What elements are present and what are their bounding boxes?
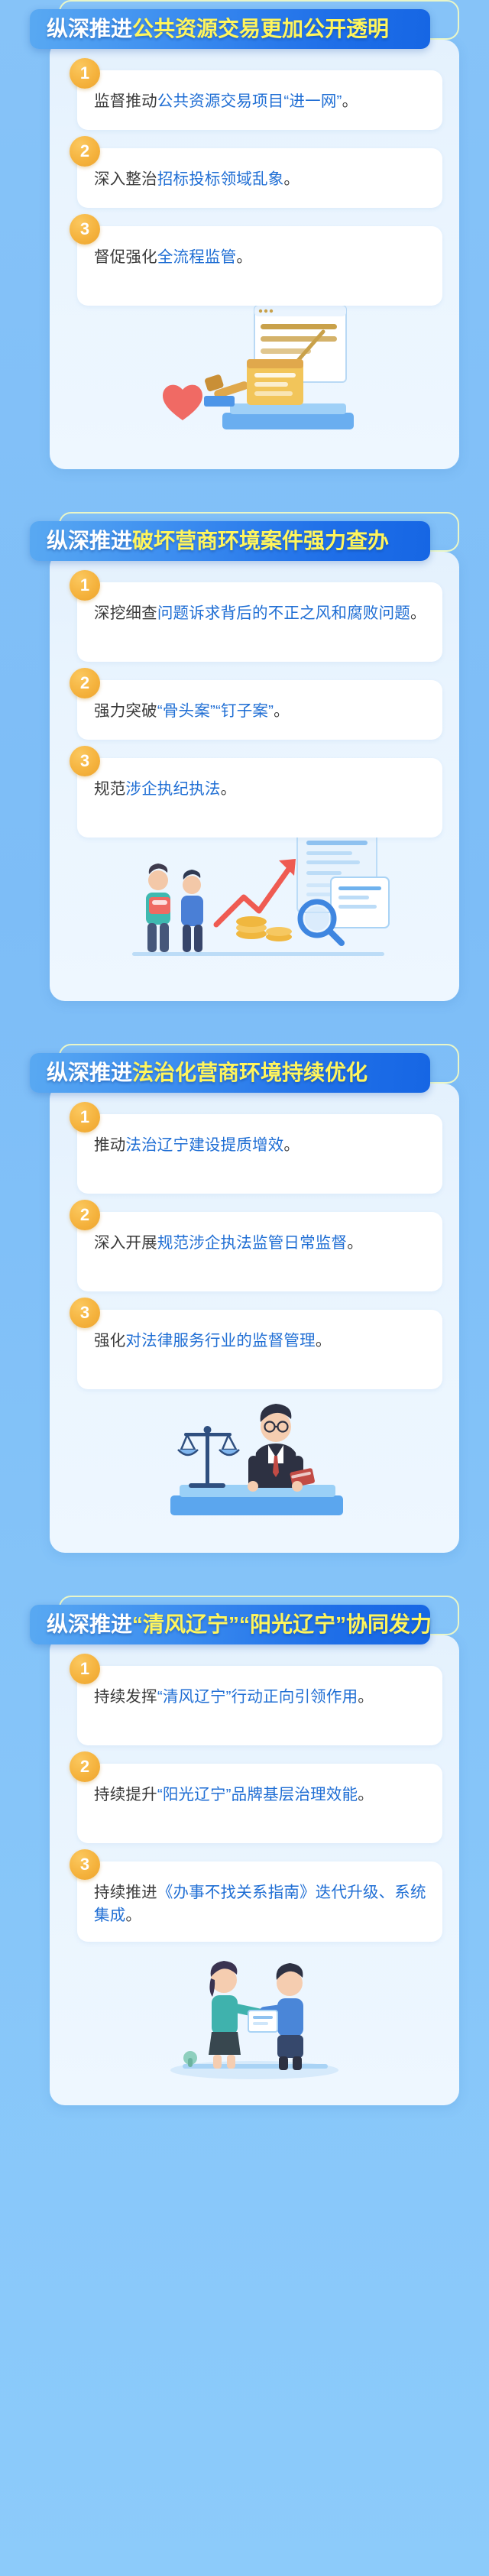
item-number-badge: 3 [70,746,100,776]
section-1: 纵深推进公共资源交易更加公开透明 1 监督推动公共资源交易项目“进一网”。 2 … [30,0,459,469]
list-item: 1 推动法治辽宁建设提质增效。 [66,1114,442,1194]
section-4-header: 纵深推进“清风辽宁”“阳光辽宁”协同发力 [30,1596,459,1644]
item-text-tail: 。 [347,1234,363,1252]
section-2-card: 1 深挖细查问题诉求背后的不正之风和腐败问题。 2 强力突破“骨头案”“钉子案”… [50,552,459,1001]
item-text: 督促强化全流程监管。 [94,246,429,269]
item-text: 强力突破“骨头案”“钉子案”。 [94,700,429,723]
illustration-svg [140,1936,369,2088]
title-highlight: 破坏营商环境案件强力查办 [132,529,389,552]
item-text-plain: 监督推动 [94,92,157,110]
judge-scales-illustration [66,1408,442,1536]
item-text-highlight: 法治辽宁建设提质增效 [125,1136,283,1154]
item-text: 深入整治招标投标领域乱象。 [94,168,429,191]
infographic-page: 纵深推进公共资源交易更加公开透明 1 监督推动公共资源交易项目“进一网”。 2 … [0,0,489,2171]
item-number-badge: 2 [70,136,100,167]
item-text: 深挖细查问题诉求背后的不正之风和腐败问题。 [94,602,429,625]
item-text-tail: 。 [342,92,358,110]
illustration-inner [66,1936,442,2088]
section-2-title: 纵深推进破坏营商环境案件强力查办 [47,530,389,552]
section-1-card: 1 监督推动公共资源交易项目“进一网”。 2 深入整治招标投标领域乱象。 3 督… [50,40,459,469]
item-text-tail: 。 [125,1907,141,1924]
list-item: 1 持续发挥“清风辽宁”行动正向引领作用。 [66,1666,442,1745]
item-content-box: 规范涉企执纪执法。 [77,758,442,838]
illustration-inner [66,300,442,452]
list-item: 2 深入开展规范涉企执法监管日常监督。 [66,1212,442,1291]
item-content-box: 推动法治辽宁建设提质增效。 [77,1114,442,1194]
list-item: 1 深挖细查问题诉求背后的不正之风和腐败问题。 [66,582,442,662]
item-text: 持续发挥“清风辽宁”行动正向引领作用。 [94,1686,429,1709]
illustration-svg [140,300,369,452]
item-text-tail: 。 [283,170,300,188]
item-text-tail: 。 [274,702,290,720]
item-text-tail: 。 [221,780,237,798]
item-text-highlight: “阳光辽宁”品牌基层治理效能 [157,1786,358,1803]
item-text: 监督推动公共资源交易项目“进一网”。 [94,90,429,113]
title-highlight: “清风辽宁”“阳光辽宁”协同发力 [132,1612,432,1636]
section-3-title: 纵深推进法治化营商环境持续优化 [47,1062,368,1084]
item-text-tail: 。 [236,248,252,266]
section-4-title: 纵深推进“清风辽宁”“阳光辽宁”协同发力 [47,1614,432,1635]
item-text-highlight: 对法律服务行业的监督管理 [125,1332,315,1350]
item-number-badge: 2 [70,1200,100,1230]
item-text-highlight: “清风辽宁”行动正向引领作用 [157,1688,358,1706]
item-text-highlight: 全流程监管 [157,248,237,266]
item-text-highlight: 规范涉企执法监管日常监督 [157,1234,347,1252]
illustration-inner [66,1379,442,1536]
header-bar: 纵深推进公共资源交易更加公开透明 [30,9,430,49]
illustration-svg [140,1379,369,1536]
item-content-box: 强力突破“骨头案”“钉子案”。 [77,680,442,740]
item-text-plain: 强化 [94,1332,125,1350]
item-number-badge: 3 [70,1849,100,1880]
item-text-plain: 规范 [94,780,125,798]
item-text-plain: 深入整治 [94,170,157,188]
item-text-plain: 推动 [94,1136,125,1154]
item-text-plain: 强力突破 [94,702,157,720]
document-review-illustration [66,324,442,452]
item-text: 持续推进《办事不找关系指南》迭代升级、系统集成。 [94,1881,429,1928]
item-number-badge: 1 [70,1102,100,1132]
illustration-svg [102,824,407,984]
item-number-badge: 1 [70,570,100,601]
item-text-highlight: 问题诉求背后的不正之风和腐败问题 [157,604,410,622]
item-text-plain: 深入开展 [94,1234,157,1252]
growth-chart-investigation-illustration [66,856,442,984]
item-content-box: 深挖细查问题诉求背后的不正之风和腐败问题。 [77,582,442,662]
item-content-box: 深入整治招标投标领域乱象。 [77,148,442,208]
item-text-tail: 。 [358,1786,374,1803]
item-text-plain: 督促强化 [94,248,157,266]
item-content-box: 持续提升“阳光辽宁”品牌基层治理效能。 [77,1764,442,1843]
list-item: 2 强力突破“骨头案”“钉子案”。 [66,680,442,740]
header-bar: 纵深推进“清风辽宁”“阳光辽宁”协同发力 [30,1605,430,1644]
list-item: 2 深入整治招标投标领域乱象。 [66,148,442,208]
item-content-box: 监督推动公共资源交易项目“进一网”。 [77,70,442,130]
item-content-box: 持续发挥“清风辽宁”行动正向引领作用。 [77,1666,442,1745]
item-number-badge: 3 [70,1298,100,1328]
list-item: 3 督促强化全流程监管。 [66,226,442,306]
list-item: 3 规范涉企执纪执法。 [66,758,442,838]
item-number-badge: 3 [70,214,100,245]
item-text-tail: 。 [358,1688,374,1706]
section-1-title: 纵深推进公共资源交易更加公开透明 [47,18,389,40]
section-3: 纵深推进法治化营商环境持续优化 1 推动法治辽宁建设提质增效。 2 深入开展规范… [30,1044,459,1553]
section-1-header: 纵深推进公共资源交易更加公开透明 [30,0,459,49]
item-text-plain: 持续发挥 [94,1688,157,1706]
item-text-tail: 。 [410,604,426,622]
illustration-inner [66,824,442,984]
item-text-highlight: 公共资源交易项目“进一网” [157,92,342,110]
item-text-tail: 。 [316,1332,332,1350]
item-text-highlight: “骨头案”“钉子案” [157,702,274,720]
item-text: 推动法治辽宁建设提质增效。 [94,1134,429,1157]
two-people-handshake-illustration [66,1960,442,2088]
section-3-card: 1 推动法治辽宁建设提质增效。 2 深入开展规范涉企执法监管日常监督。 3 强化… [50,1084,459,1553]
list-item: 3 强化对法律服务行业的监督管理。 [66,1310,442,1389]
item-text-plain: 持续提升 [94,1786,157,1803]
header-bar: 纵深推进法治化营商环境持续优化 [30,1053,430,1093]
item-text-plain: 深挖细查 [94,604,157,622]
item-content-box: 深入开展规范涉企执法监管日常监督。 [77,1212,442,1291]
item-text-tail: 。 [283,1136,300,1154]
item-number-badge: 2 [70,1751,100,1782]
item-text: 强化对法律服务行业的监督管理。 [94,1330,429,1353]
section-2: 纵深推进破坏营商环境案件强力查办 1 深挖细查问题诉求背后的不正之风和腐败问题。… [30,512,459,1001]
title-highlight: 公共资源交易更加公开透明 [132,17,389,41]
item-text: 深入开展规范涉企执法监管日常监督。 [94,1232,429,1255]
item-text-highlight: 招标投标领域乱象 [157,170,284,188]
item-content-box: 强化对法律服务行业的监督管理。 [77,1310,442,1389]
item-number-badge: 1 [70,1654,100,1684]
item-text: 持续提升“阳光辽宁”品牌基层治理效能。 [94,1784,429,1806]
title-plain: 纵深推进 [47,17,132,41]
section-3-header: 纵深推进法治化营商环境持续优化 [30,1044,459,1093]
item-text-plain: 持续推进 [94,1884,157,1901]
item-text-highlight: 涉企执纪执法 [125,780,220,798]
list-item: 2 持续提升“阳光辽宁”品牌基层治理效能。 [66,1764,442,1843]
section-4-card: 1 持续发挥“清风辽宁”行动正向引领作用。 2 持续提升“阳光辽宁”品牌基层治理… [50,1635,459,2105]
section-4: 纵深推进“清风辽宁”“阳光辽宁”协同发力 1 持续发挥“清风辽宁”行动正向引领作… [30,1596,459,2105]
title-plain: 纵深推进 [47,1612,132,1636]
header-bar: 纵深推进破坏营商环境案件强力查办 [30,521,430,561]
list-item: 3 持续推进《办事不找关系指南》迭代升级、系统集成。 [66,1862,442,1942]
item-number-badge: 2 [70,668,100,698]
section-2-header: 纵深推进破坏营商环境案件强力查办 [30,512,459,561]
title-plain: 纵深推进 [47,529,132,552]
list-item: 1 监督推动公共资源交易项目“进一网”。 [66,70,442,130]
item-content-box: 持续推进《办事不找关系指南》迭代升级、系统集成。 [77,1862,442,1942]
item-number-badge: 1 [70,58,100,89]
title-highlight: 法治化营商环境持续优化 [132,1061,368,1084]
item-text: 规范涉企执纪执法。 [94,778,429,801]
item-content-box: 督促强化全流程监管。 [77,226,442,306]
title-plain: 纵深推进 [47,1061,132,1084]
